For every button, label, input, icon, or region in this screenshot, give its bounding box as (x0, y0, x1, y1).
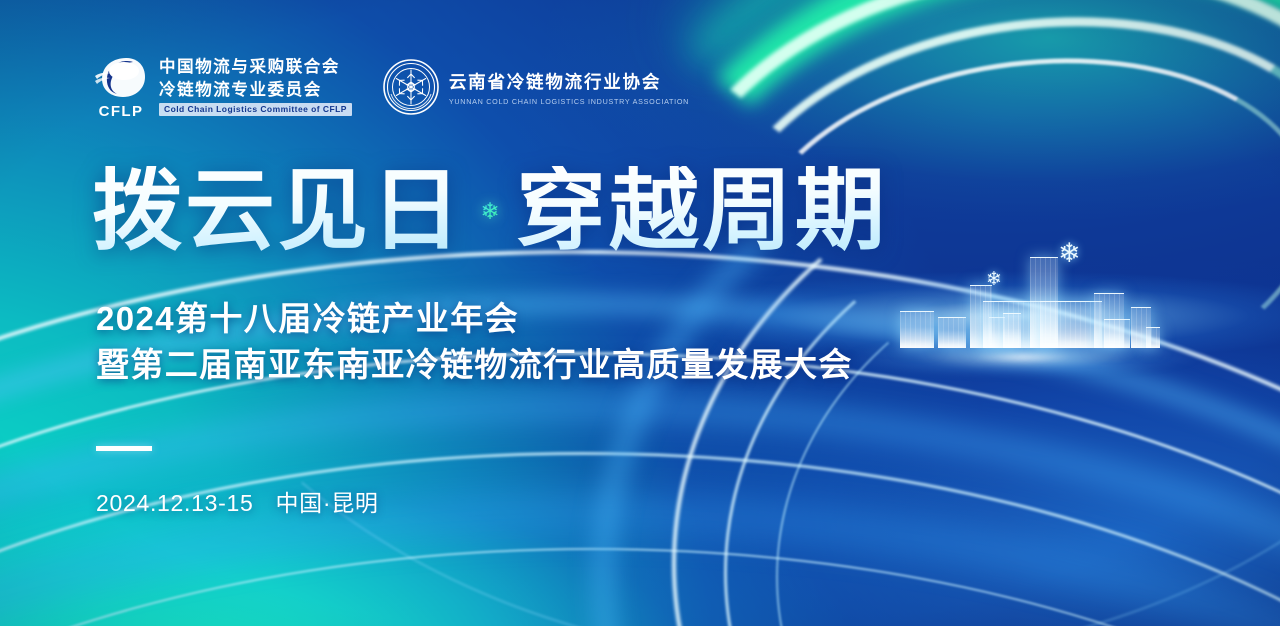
cflp-cn-line-2: 冷链物流专业委员会 (159, 81, 352, 100)
conference-banner: ❄❄ CFLP 中国物流与采购联合会 冷链物流专业委员会 Cold Chain … (0, 0, 1280, 626)
event-date: 2024.12.13-15 (96, 490, 253, 517)
cflp-cn-line-1: 中国物流与采购联合会 (159, 58, 352, 77)
divider-rule (96, 446, 152, 451)
cflp-wordmark: CFLP (92, 103, 150, 120)
headline: 拨云见日 ❄ 穿越周期 (92, 166, 888, 256)
headline-part-1: 拨云见日 (92, 166, 464, 256)
subtitle-line-2: 暨第二届南亚东南亚冷链物流行业高质量发展大会 (96, 345, 853, 385)
event-location: 中国·昆明 (275, 484, 378, 518)
cflp-en-line: Cold Chain Logistics Committee of CFLP (159, 103, 352, 116)
headline-part-2: 穿越周期 (516, 166, 888, 256)
skyline-building (900, 311, 934, 348)
yunnan-en-line: YUNNAN COLD CHAIN LOGISTICS INDUSTRY ASS… (449, 97, 689, 106)
snowflake-seal-icon (382, 58, 440, 116)
skyline-building (1146, 327, 1160, 348)
snowflake-icon: ❄ (1058, 240, 1081, 267)
skyline-building (1104, 319, 1130, 348)
skyline-building (1040, 301, 1102, 348)
yunnan-association-logo: 云南省冷链物流行业协会 YUNNAN COLD CHAIN LOGISTICS … (382, 58, 689, 116)
cflp-globe-icon: CFLP (92, 54, 150, 120)
cflp-logo: CFLP 中国物流与采购联合会 冷链物流专业委员会 Cold Chain Log… (92, 54, 352, 120)
event-meta: 2024.12.13-15 中国·昆明 (96, 484, 379, 518)
skyline-building (1003, 313, 1021, 348)
subtitle-block: 2024第十八届冷链产业年会 暨第二届南亚东南亚冷链物流行业高质量发展大会 (96, 299, 853, 386)
yunnan-text-block: 云南省冷链物流行业协会 YUNNAN COLD CHAIN LOGISTICS … (449, 69, 689, 106)
snowflake-icon: ❄ (986, 270, 1002, 289)
yunnan-cn-line: 云南省冷链物流行业协会 (449, 69, 689, 94)
skyline-building (938, 317, 966, 348)
city-skyline: ❄❄ (890, 196, 1220, 348)
snowflake-icon: ❄ (468, 200, 512, 223)
cflp-text-block: 中国物流与采购联合会 冷链物流专业委员会 Cold Chain Logistic… (159, 58, 352, 116)
organizer-logos: CFLP 中国物流与采购联合会 冷链物流专业委员会 Cold Chain Log… (92, 54, 689, 120)
subtitle-line-1: 2024第十八届冷链产业年会 (96, 299, 853, 339)
